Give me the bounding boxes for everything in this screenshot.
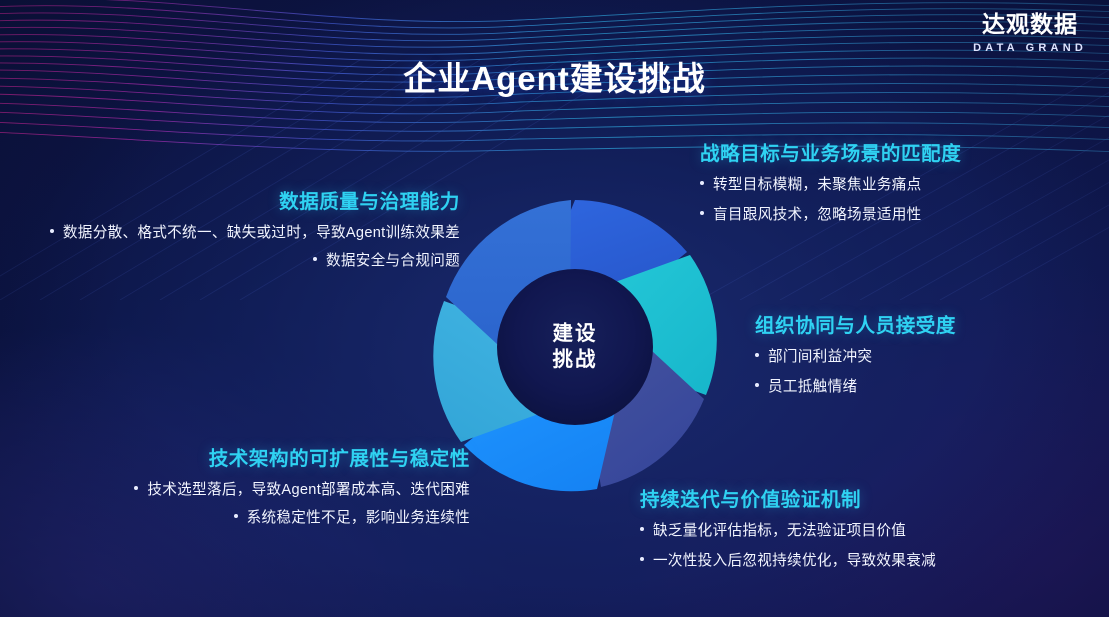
list-item: 技术选型落后，导致Agent部署成本高、迭代困难 — [80, 479, 470, 502]
challenge-bullets-strategy: 转型目标模糊，未聚焦业务痛点 盲目跟风技术，忽略场景适用性 — [700, 174, 1060, 226]
bullet-dot-icon — [134, 486, 138, 490]
challenge-block-organization: 组织协同与人员接受度 部门间利益冲突 员工抵触情绪 — [755, 314, 1085, 406]
bullet-dot-icon — [700, 181, 704, 185]
bullet-text: 盲目跟风技术，忽略场景适用性 — [713, 204, 922, 227]
challenge-heading-strategy: 战略目标与业务场景的匹配度 — [700, 142, 1060, 166]
list-item: 缺乏量化评估指标，无法验证项目价值 — [640, 520, 1060, 543]
challenge-bullets-iteration: 缺乏量化评估指标，无法验证项目价值 一次性投入后忽视持续优化，导致效果衰减 — [640, 520, 1060, 572]
bullet-dot-icon — [50, 229, 54, 233]
list-item: 一次性投入后忽视持续优化，导致效果衰减 — [640, 550, 1060, 573]
bullet-text: 缺乏量化评估指标，无法验证项目价值 — [653, 520, 906, 543]
bullet-dot-icon — [700, 211, 704, 215]
wheel-hub — [497, 269, 653, 425]
bullet-text: 技术选型落后，导致Agent部署成本高、迭代困难 — [147, 479, 470, 502]
bullet-dot-icon — [313, 257, 317, 261]
bullet-text: 部门间利益冲突 — [768, 346, 872, 369]
slide-title: 企业Agent建设挑战 — [0, 52, 1109, 100]
challenge-heading-data-quality: 数据质量与治理能力 — [20, 190, 460, 214]
list-item: 数据安全与合规问题 — [20, 250, 460, 273]
slide-canvas: 达观数据 DATA GRAND 企业Agent建设挑战 — [0, 0, 1109, 617]
brand-logo: 达观数据 DATA GRAND — [973, 13, 1087, 54]
bullet-dot-icon — [234, 514, 238, 518]
list-item: 员工抵触情绪 — [755, 376, 1085, 399]
challenge-block-data-quality: 数据质量与治理能力 数据分散、格式不统一、缺失或过时，导致Agent训练效果差 … — [20, 190, 460, 276]
list-item: 数据分散、格式不统一、缺失或过时，导致Agent训练效果差 — [20, 222, 460, 245]
bullet-text: 系统稳定性不足，影响业务连续性 — [247, 507, 470, 530]
list-item: 部门间利益冲突 — [755, 346, 1085, 369]
bullet-text: 一次性投入后忽视持续优化，导致效果衰减 — [653, 550, 936, 573]
challenge-block-iteration: 持续迭代与价值验证机制 缺乏量化评估指标，无法验证项目价值 一次性投入后忽视持续… — [640, 488, 1060, 580]
bullet-text: 数据安全与合规问题 — [326, 250, 460, 273]
challenge-bullets-organization: 部门间利益冲突 员工抵触情绪 — [755, 346, 1085, 398]
challenge-block-strategy: 战略目标与业务场景的匹配度 转型目标模糊，未聚焦业务痛点 盲目跟风技术，忽略场景… — [700, 142, 1060, 234]
list-item: 系统稳定性不足，影响业务连续性 — [80, 507, 470, 530]
challenge-heading-iteration: 持续迭代与价值验证机制 — [640, 488, 1060, 512]
logo-chinese-name: 达观数据 — [973, 13, 1087, 36]
bullet-dot-icon — [640, 557, 644, 561]
challenge-heading-organization: 组织协同与人员接受度 — [755, 314, 1085, 338]
challenge-block-technology: 技术架构的可扩展性与稳定性 技术选型落后，导致Agent部署成本高、迭代困难 系… — [80, 447, 470, 533]
bullet-dot-icon — [755, 353, 759, 357]
bullet-text: 转型目标模糊，未聚焦业务痛点 — [713, 174, 922, 197]
list-item: 转型目标模糊，未聚焦业务痛点 — [700, 174, 1060, 197]
bullet-dot-icon — [755, 383, 759, 387]
bullet-text: 员工抵触情绪 — [768, 376, 857, 399]
challenge-bullets-technology: 技术选型落后，导致Agent部署成本高、迭代困难 系统稳定性不足，影响业务连续性 — [80, 479, 470, 529]
bullet-dot-icon — [640, 527, 644, 531]
challenge-bullets-data-quality: 数据分散、格式不统一、缺失或过时，导致Agent训练效果差 数据安全与合规问题 — [20, 222, 460, 272]
list-item: 盲目跟风技术，忽略场景适用性 — [700, 204, 1060, 227]
bullet-text: 数据分散、格式不统一、缺失或过时，导致Agent训练效果差 — [63, 222, 460, 245]
challenge-heading-technology: 技术架构的可扩展性与稳定性 — [80, 447, 470, 471]
